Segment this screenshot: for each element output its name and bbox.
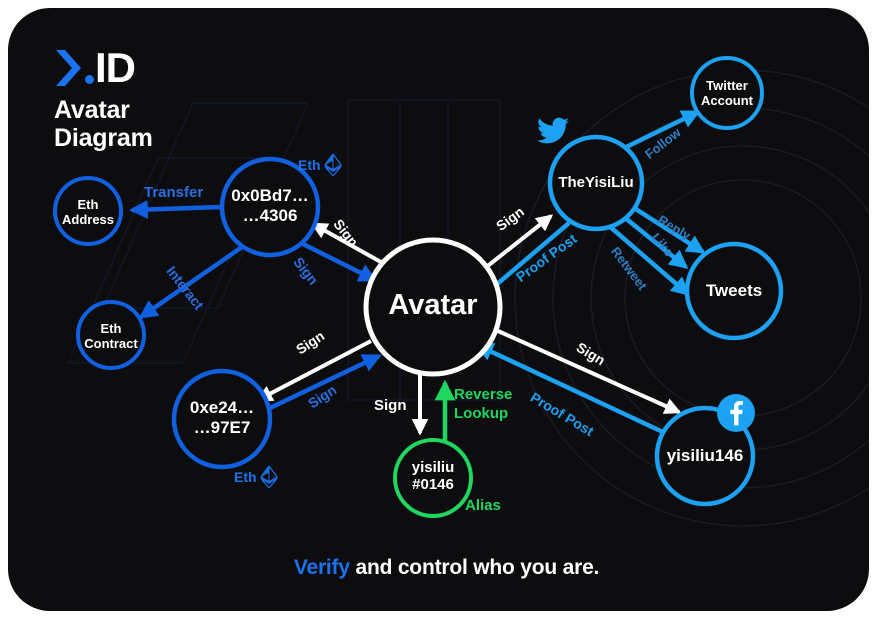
logo-text: ID [95, 48, 135, 88]
node-alias[interactable] [395, 440, 471, 516]
node-twitter-handle[interactable] [550, 137, 642, 229]
diagram-canvas: Eth Address 0x0Bd7… …4306 Eth Contract 0… [0, 0, 877, 619]
ethereum-diamond-icon [324, 154, 342, 176]
edge-label-transfer: Transfer [144, 184, 203, 201]
ethereum-diamond-icon [260, 466, 278, 488]
node-tweets[interactable] [687, 244, 781, 338]
eth-mark-top: Eth [298, 154, 342, 176]
node-eth-address[interactable] [55, 178, 121, 244]
logo-dot-icon [85, 75, 94, 84]
facebook-f-icon [717, 394, 755, 432]
edge-transfer [132, 207, 221, 210]
page-title-line2: Diagram [54, 124, 153, 152]
eth-label: Eth [234, 469, 257, 485]
diagram-card: Eth Address 0x0Bd7… …4306 Eth Contract 0… [8, 8, 869, 611]
edge-label-reverse-lookup: Reverse Lookup [454, 386, 512, 424]
eth-mark-bottom: Eth [234, 466, 278, 488]
edge-label-sign-alias: Sign [374, 397, 407, 414]
page-title: Avatar Diagram [54, 96, 153, 152]
node-avatar[interactable] [366, 240, 500, 374]
xid-logo-icon [54, 48, 84, 88]
node-eth-key-0xe24[interactable] [174, 371, 270, 467]
twitter-bird-icon [537, 117, 569, 145]
node-eth-contract[interactable] [78, 302, 144, 368]
tagline-highlight: Verify [294, 556, 350, 579]
node-twitter-account[interactable] [692, 58, 762, 128]
tagline-rest: and control who you are. [350, 556, 599, 579]
alias-tag-label: Alias [465, 497, 501, 514]
page-title-line1: Avatar [54, 96, 153, 124]
brand-block: ID Avatar Diagram [54, 40, 153, 152]
tagline: Verify and control who you are. [8, 556, 869, 580]
eth-label: Eth [298, 157, 321, 173]
logo: ID [54, 40, 153, 88]
